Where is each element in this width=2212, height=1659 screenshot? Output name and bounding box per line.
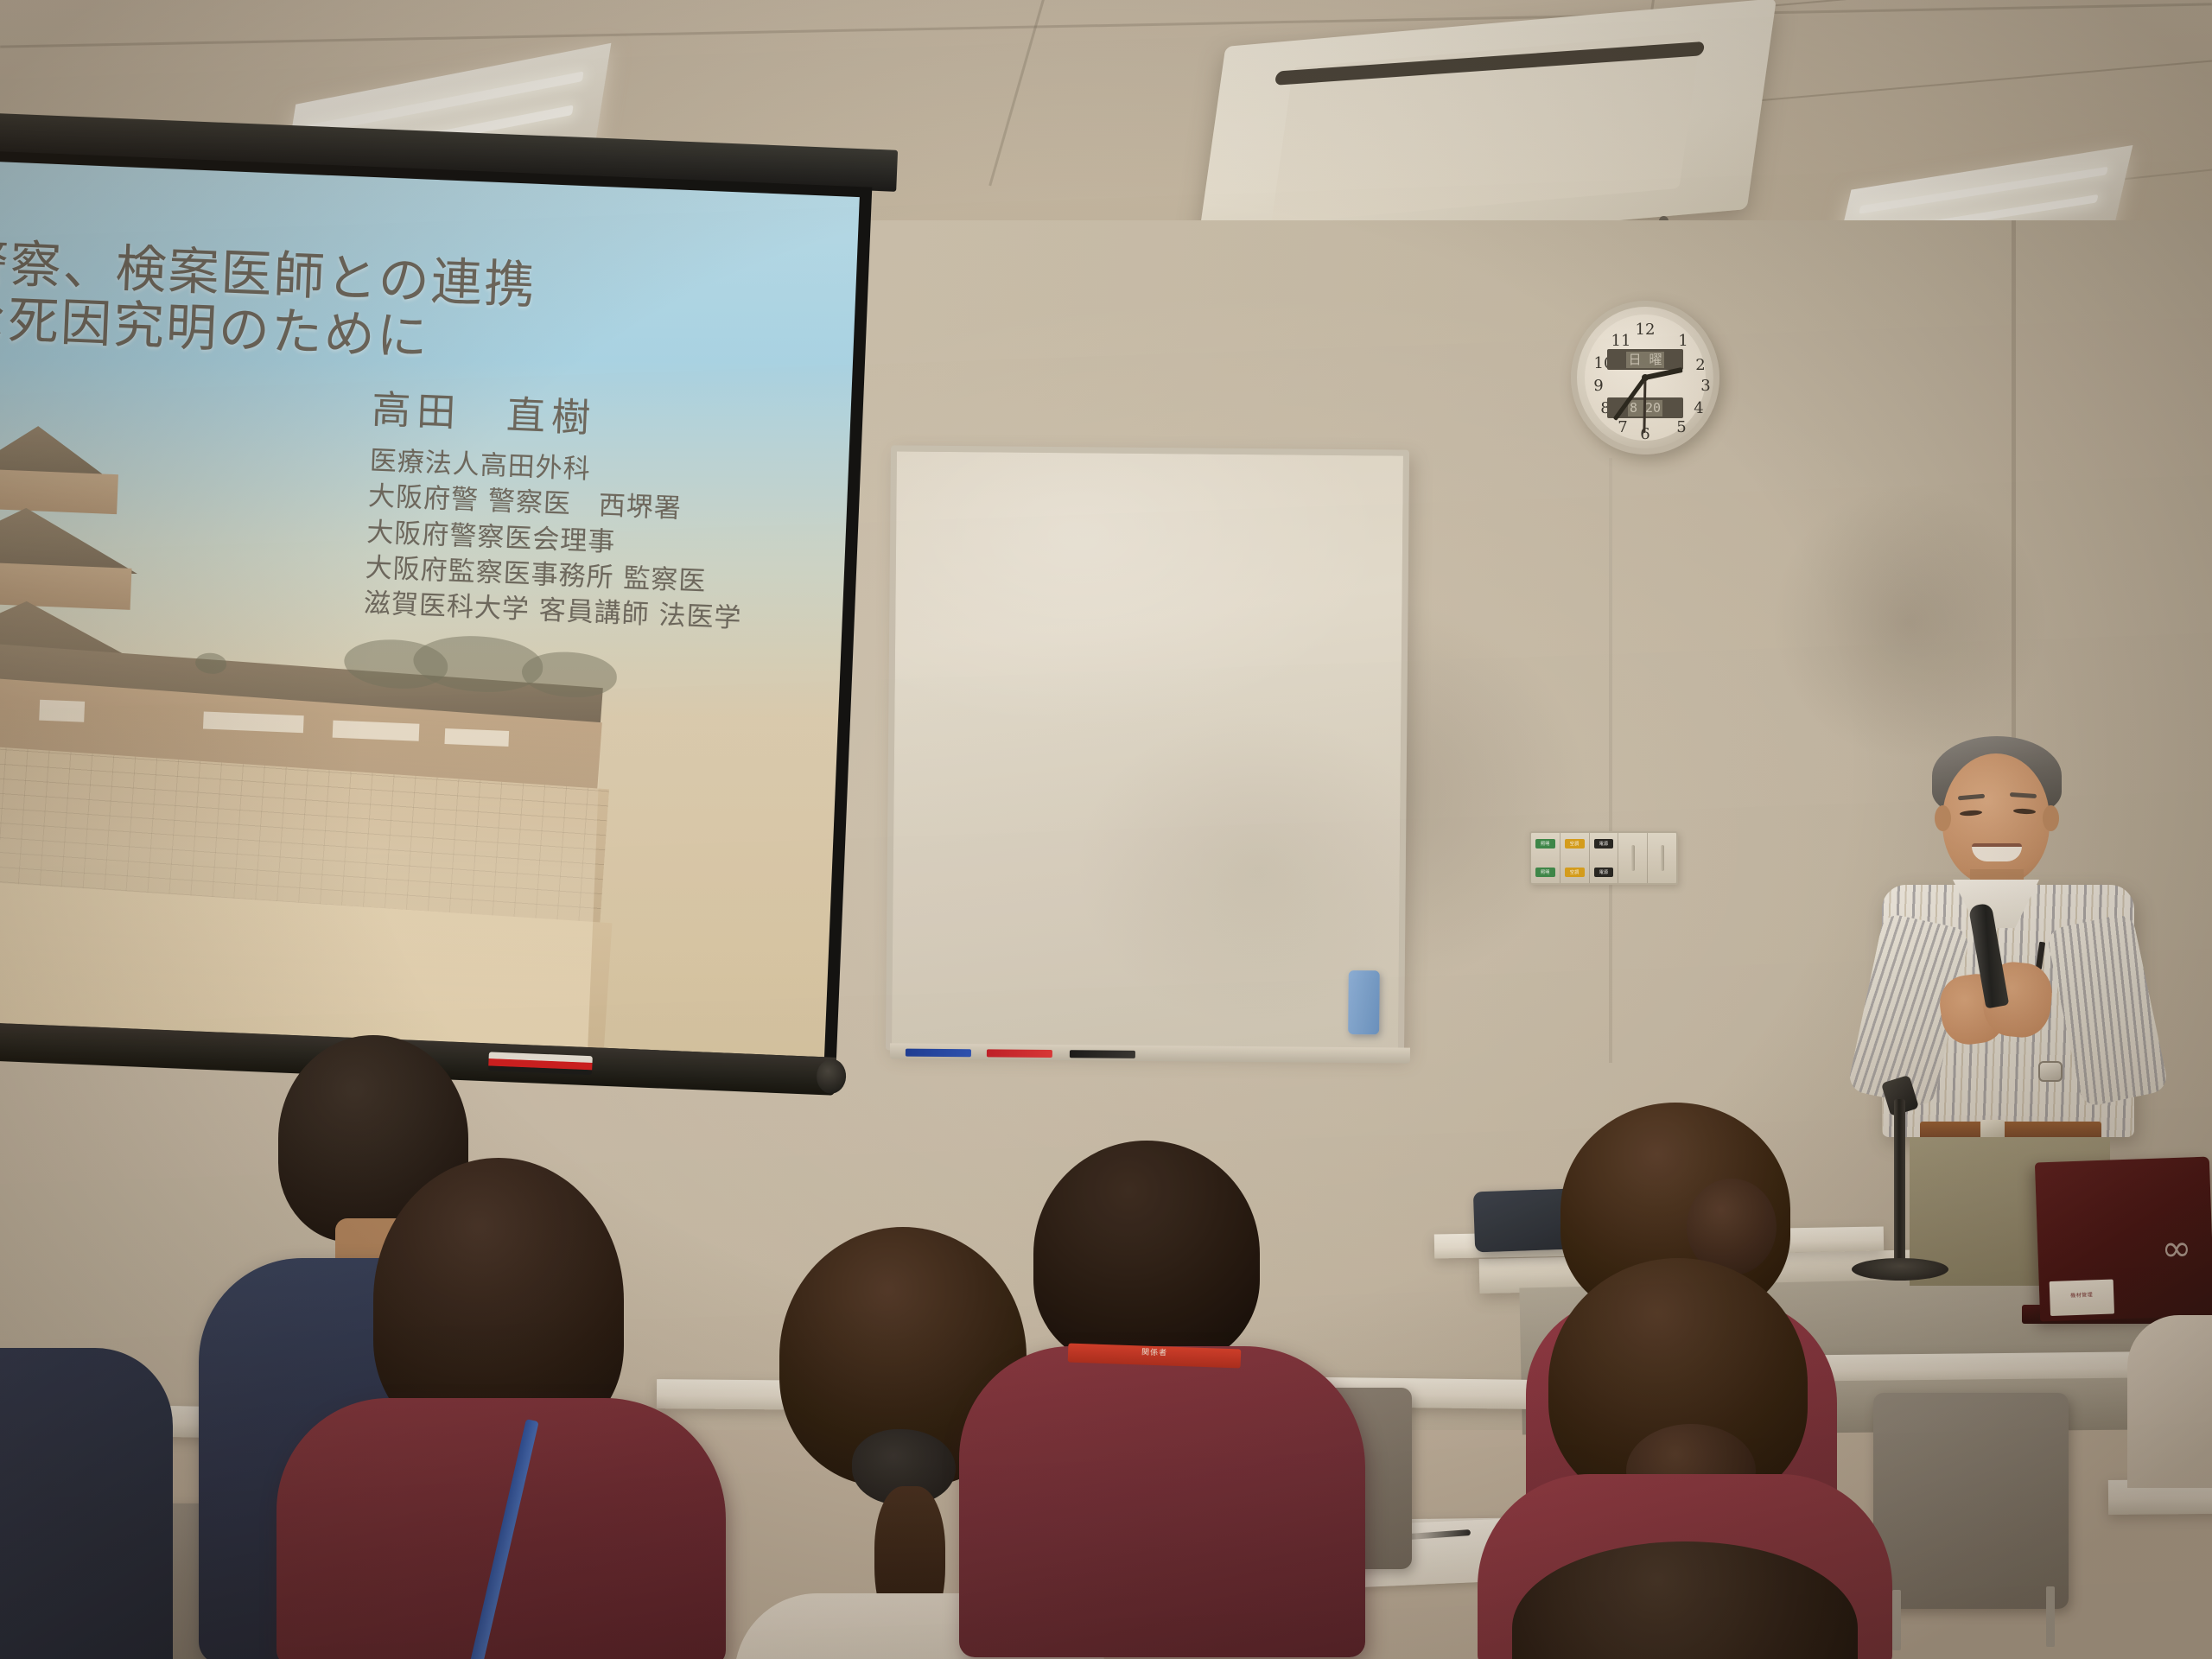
audience-person-far-right xyxy=(2127,1315,2212,1488)
slide-title: 警察、検案医師との連携 な死因究明のために xyxy=(0,234,860,385)
slide-presenter-name: 高田 直樹 xyxy=(371,378,597,443)
black-marker[interactable] xyxy=(1070,1050,1135,1058)
switch-label-top: 照明 xyxy=(1535,839,1555,849)
presenter-ear-right xyxy=(2043,805,2059,831)
switch-rocker-2[interactable] xyxy=(1648,833,1676,883)
switch-cell-aircon[interactable]: 空調 空調 xyxy=(1560,833,1590,883)
rocker-toggle[interactable] xyxy=(1661,845,1664,871)
clock-numeral-2: 2 xyxy=(1690,356,1711,374)
laptop-brand-logo: ∞ xyxy=(2161,1230,2192,1267)
switch-cell-lighting[interactable]: 照明 照明 xyxy=(1531,833,1560,883)
wall-seam xyxy=(1609,458,1612,1063)
clock-numeral-12: 12 xyxy=(1635,321,1656,339)
screen-bar-end-cap xyxy=(816,1058,847,1094)
presenter-head xyxy=(1942,753,2050,885)
stacking-chair-right[interactable] xyxy=(1873,1393,2069,1609)
audience-woman-bob-left xyxy=(328,1158,778,1659)
rocker-toggle[interactable] xyxy=(1631,845,1635,871)
switch-label-bottom: 空調 xyxy=(1565,868,1585,877)
whiteboard-glare xyxy=(892,451,1403,1048)
switch-rocker-1[interactable] xyxy=(1618,833,1648,883)
clock-numeral-9: 9 xyxy=(1588,377,1609,395)
blue-marker[interactable] xyxy=(906,1049,971,1058)
audience-partial-shoulder xyxy=(2127,1315,2212,1488)
chair-leg xyxy=(1892,1590,1901,1650)
chair-leg xyxy=(2046,1586,2055,1647)
castle-window xyxy=(444,728,509,747)
clock-numeral-11: 11 xyxy=(1611,332,1631,350)
screen-frame: 警察、検案医師との連携 な死因究明のために 高田 直樹 医療法人高田外科 大阪府… xyxy=(0,150,872,1068)
presenter-laptop[interactable]: ∞ 機材管理 xyxy=(2035,1157,2212,1322)
audience-person-lanyard: 関係者 xyxy=(994,1141,1365,1659)
clock-numeral-1: 1 xyxy=(1673,332,1694,350)
switch-label-top: 電源 xyxy=(1594,839,1614,849)
microphone-stand-pole xyxy=(1894,1099,1905,1272)
switch-label-bottom: 電源 xyxy=(1594,868,1614,877)
castle-window xyxy=(333,721,420,741)
clock-face: SEIKO 12 1 2 3 4 5 6 7 8 9 10 11 日 曜 8 2… xyxy=(1585,315,1706,441)
clock-digital-day-window: 日 曜 xyxy=(1607,349,1683,370)
wall-clock: SEIKO 12 1 2 3 4 5 6 7 8 9 10 11 日 曜 8 2… xyxy=(1571,301,1719,454)
castle-tier xyxy=(0,560,132,610)
clock-numeral-4: 4 xyxy=(1688,399,1709,417)
clock-numeral-7: 7 xyxy=(1612,418,1633,436)
audience-person-front-right xyxy=(1512,1541,1875,1659)
castle-window xyxy=(39,700,85,722)
audience-partial-navy-shoulder xyxy=(0,1348,173,1659)
clock-numeral-5: 5 xyxy=(1671,418,1692,436)
presenter-smiling-mouth xyxy=(1972,843,2022,861)
switch-label-top: 空調 xyxy=(1565,839,1585,849)
whiteboard-eraser[interactable] xyxy=(1348,970,1380,1034)
clock-day-text: 日 曜 xyxy=(1626,352,1663,368)
presenter-wristwatch xyxy=(2038,1061,2063,1082)
clock-numeral-3: 3 xyxy=(1695,377,1716,395)
audience-hair xyxy=(1033,1141,1260,1367)
castle-tier xyxy=(0,467,118,514)
red-marker[interactable] xyxy=(987,1049,1052,1058)
whiteboard xyxy=(886,445,1409,1054)
switch-cell-power[interactable]: 電源 電源 xyxy=(1590,833,1619,883)
laptop-asset-sticker: 機材管理 xyxy=(2050,1279,2114,1316)
projection-screen: 警察、検案医師との連携 な死因究明のために 高田 直樹 医療法人高田外科 大阪府… xyxy=(0,112,898,1152)
slide-affiliation-list: 医療法人高田外科 大阪府警 警察医 西堺署 大阪府警察医会理事 大阪府監察医事務… xyxy=(363,443,748,637)
audience-person-left-edge xyxy=(0,1348,181,1659)
audience-maroon-polo-shirt xyxy=(959,1346,1365,1657)
presenter-ear-left xyxy=(1935,805,1951,831)
clock-center-pin xyxy=(1642,374,1649,381)
light-switch-panel[interactable]: 照明 照明 空調 空調 電源 電源 xyxy=(1529,831,1678,885)
lecture-room-photo: 警察、検案医師との連携 な死因究明のために 高田 直樹 医療法人高田外科 大阪府… xyxy=(0,0,2212,1659)
switch-label-bottom: 照明 xyxy=(1535,868,1555,877)
projected-slide: 警察、検案医師との連携 な死因究明のために 高田 直樹 医療法人高田外科 大阪府… xyxy=(0,162,860,1058)
audience-hair xyxy=(1512,1541,1858,1659)
